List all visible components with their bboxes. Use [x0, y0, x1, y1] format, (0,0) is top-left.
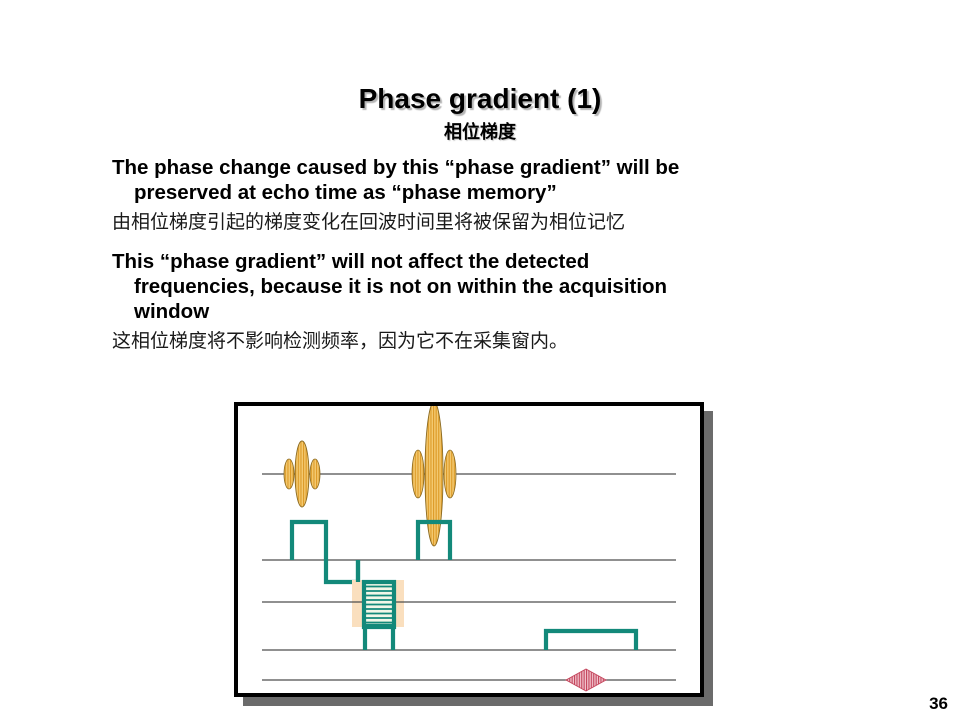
- refocusing-rf-pulse-side-lobe: [444, 450, 456, 498]
- bullet-2-line-2: frequencies, because it is not on within…: [112, 274, 857, 299]
- bullet-1: The phase change caused by this “phase g…: [112, 155, 857, 205]
- excitation-rf-pulse: [284, 441, 320, 507]
- refocusing-rf-pulse-side-lobe: [412, 450, 424, 498]
- readout-dephase-lobe: [365, 626, 393, 650]
- page-number: 36: [929, 694, 948, 714]
- bullet-2-translation: 这相位梯度将不影响检测频率，因为它不在采集窗内。: [112, 330, 857, 354]
- phase-encoding-gradient-channel: [262, 580, 676, 627]
- slice-rephase-lobe: [326, 560, 358, 582]
- bullet-1-line-2: preserved at echo time as “phase memory”: [112, 180, 857, 205]
- bullet-2: This “phase gradient” will not affect th…: [112, 249, 857, 324]
- spin-echo-signal: [566, 669, 606, 691]
- bullet-2-line-1: This “phase gradient” will not affect th…: [112, 250, 589, 273]
- slice-select-gradient-channel: [262, 522, 676, 582]
- readout-frequency-gradient-channel: [262, 626, 676, 650]
- bullet-2-line-3: window: [112, 299, 857, 324]
- pulse-sequence-figure: [234, 402, 704, 697]
- excitation-rf-pulse-main-lobe: [295, 441, 309, 507]
- phase-encoding-ladder: [364, 582, 394, 627]
- excitation-rf-pulse-side-lobe: [310, 459, 320, 489]
- page-subtitle-chinese: 相位梯度: [0, 118, 960, 144]
- bullet-1-translation: 由相位梯度引起的梯度变化在回波时间里将被保留为相位记忆: [112, 211, 857, 235]
- excitation-rf-pulse-side-lobe: [284, 459, 294, 489]
- bullet-1-line-1: The phase change caused by this “phase g…: [112, 156, 679, 179]
- pulse-sequence-svg: [238, 406, 700, 693]
- refocusing-rf-pulse-main-lobe: [425, 406, 443, 546]
- signal-echo-channel: [262, 669, 676, 691]
- slice-select-lobe-1: [292, 522, 326, 560]
- page-title: Phase gradient (1): [0, 84, 960, 113]
- slide-body: The phase change caused by this “phase g…: [112, 155, 857, 366]
- spin-echo-signal-envelope: [566, 669, 606, 691]
- readout-acquisition-lobe: [546, 631, 636, 650]
